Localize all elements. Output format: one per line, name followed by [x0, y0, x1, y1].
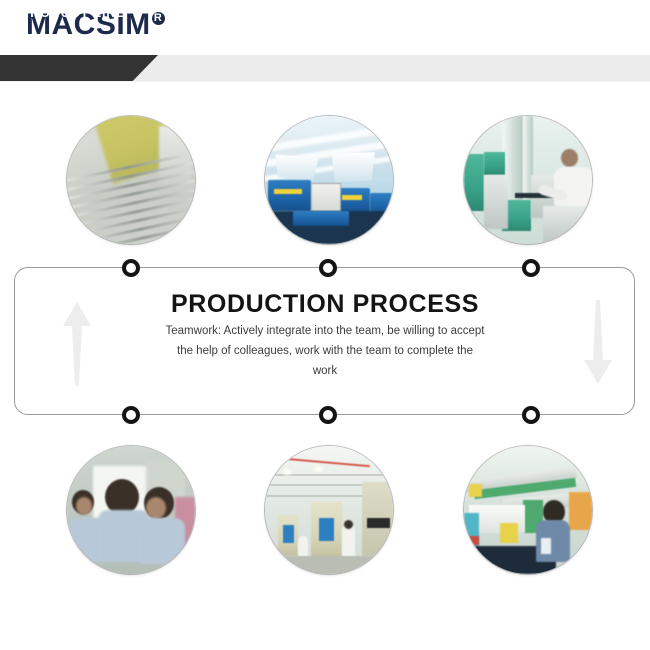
registered-trademark-icon: R [152, 12, 165, 25]
photo-team-workers[interactable] [67, 446, 195, 574]
photo-green-machine-operator[interactable] [464, 116, 592, 244]
photo-scene [464, 446, 592, 574]
page-header: MACSIMR PRODUCT LINE [0, 0, 650, 92]
photo-scene [67, 116, 195, 244]
photo-conveyor-grating[interactable] [67, 116, 195, 244]
marker-bottom-left [122, 406, 140, 424]
process-description: Teamwork: Actively integrate into the te… [165, 321, 485, 381]
photo-scene [67, 446, 195, 574]
header-divider [0, 81, 650, 82]
product-line-tab-content[interactable]: PRODUCT LINE [8, 0, 126, 26]
product-line-label: PRODUCT LINE [21, 6, 126, 20]
marker-bottom-center [319, 406, 337, 424]
photo-press-shop-floor[interactable] [265, 446, 393, 574]
page-title: PRODUCTION PROCESS [0, 292, 650, 317]
product-line-tab[interactable] [0, 55, 158, 81]
marker-bottom-right [522, 406, 540, 424]
photo-assembly-line-worker[interactable] [464, 446, 592, 574]
photo-scene [265, 116, 393, 244]
photo-blue-presses[interactable] [265, 116, 393, 244]
photo-scene [265, 446, 393, 574]
marker-top-left [122, 259, 140, 277]
circle-outline-icon [8, 10, 15, 17]
photo-scene [464, 116, 592, 244]
marker-top-center [319, 259, 337, 277]
marker-top-right [522, 259, 540, 277]
